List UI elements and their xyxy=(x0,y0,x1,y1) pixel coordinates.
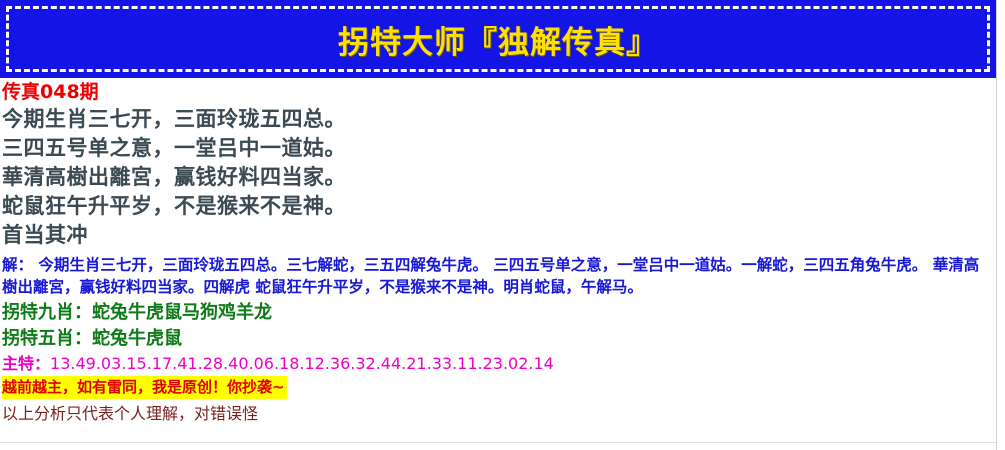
zodiac-nine-row: 拐特九肖：蛇兔牛虎鼠马狗鸡羊龙 xyxy=(2,300,996,326)
poem-block: 今期生肖三七开，三面玲珑五四总。 三四五号单之意，一堂吕中一道姑。 華清高樹出離… xyxy=(2,105,996,250)
zodiac-five-value: 蛇兔牛虎鼠 xyxy=(92,328,182,349)
numbers-row: 主特：13.49.03.15.17.41.28.40.06.18.12.36.3… xyxy=(2,353,996,375)
poem-line: 蛇鼠狂午升平岁，不是猴来不是神。 xyxy=(2,192,996,221)
zodiac-nine-value: 蛇兔牛虎鼠马狗鸡羊龙 xyxy=(92,302,272,323)
warning-row: 越前越主，如有雷同，我是原创！你抄袭~ xyxy=(2,375,996,399)
numbers-label: 主特： xyxy=(2,354,50,373)
disclaimer-text: 以上分析只代表个人理解，对错误怪 xyxy=(2,402,996,426)
bottom-divider xyxy=(0,442,996,443)
numbers-value: 13.49.03.15.17.41.28.40.06.18.12.36.32.4… xyxy=(50,354,554,373)
poem-line: 三四五号单之意，一堂吕中一道姑。 xyxy=(2,134,996,163)
page-title: 拐特大师『独解传真』 xyxy=(0,0,996,78)
zodiac-nine-label: 拐特九肖： xyxy=(2,302,92,323)
poem-line: 華清高樹出離宮，赢钱好料四当家。 xyxy=(2,163,996,192)
explanation-paragraph: 解： 今期生肖三七开，三面玲珑五四总。三七解蛇，三五四解兔牛虎。 三四五号单之意… xyxy=(2,254,994,298)
page-edge-divider xyxy=(996,0,997,450)
issue-title: 传真048期 xyxy=(2,80,996,105)
zodiac-five-label: 拐特五肖： xyxy=(2,328,92,349)
header-banner: 拐特大师『独解传真』 xyxy=(0,0,996,78)
poem-line: 首当其冲 xyxy=(2,221,996,250)
warning-highlight-text: 越前越主，如有雷同，我是原创！你抄袭~ xyxy=(2,376,287,399)
content-area: 传真048期 今期生肖三七开，三面玲珑五四总。 三四五号单之意，一堂吕中一道姑。… xyxy=(2,80,996,426)
zodiac-five-row: 拐特五肖：蛇兔牛虎鼠 xyxy=(2,326,996,352)
poem-line: 今期生肖三七开，三面玲珑五四总。 xyxy=(2,105,996,134)
